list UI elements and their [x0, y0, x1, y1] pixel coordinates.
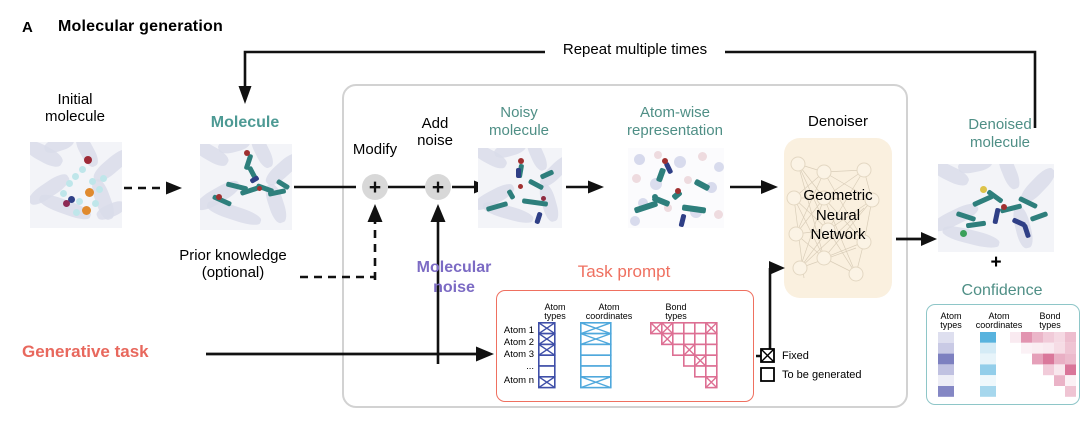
arrow-atomwise-to-denoiser — [730, 178, 780, 196]
confidence-header-atom-coordinates: Atom coordinates — [968, 312, 1030, 331]
dashed-line-prior-knowledge-horizontal — [300, 272, 380, 282]
dashed-arrow-initial-to-molecule — [124, 178, 186, 198]
confidence-bond-types-heatmap — [1010, 332, 1076, 398]
modify-label: Modify — [340, 142, 410, 159]
confidence-plus-sign: + — [968, 252, 1024, 273]
arrow-molecule-to-modify — [294, 178, 360, 196]
legend-fixed-label: Fixed — [782, 350, 809, 362]
legend-fixed-icon — [760, 348, 775, 363]
task-prompt-atom-types-matrix — [538, 322, 560, 388]
molecular-noise-label: Molecular noise — [398, 258, 510, 298]
neural-network-label: Geometric Neural Network — [784, 186, 892, 245]
task-prompt-row-label-0: Atom 1 — [498, 325, 534, 336]
task-prompt-legend: Fixed To be generated — [760, 348, 890, 382]
noisy-molecule-label: Noisy molecule — [464, 104, 574, 140]
arrow-denoiser-to-denoised — [896, 230, 938, 248]
molecule-image — [200, 144, 292, 230]
dashed-arrow-prior-knowledge — [360, 196, 390, 280]
task-prompt-header-bond-types: Bond types — [650, 303, 702, 322]
denoised-molecule-label: Denoised molecule — [930, 116, 1070, 152]
atomwise-representation-label: Atom-wise representation — [600, 104, 750, 140]
arrow-modify-to-addnoise — [388, 178, 430, 196]
generative-task-label: Generative task — [22, 342, 222, 362]
confidence-header-bond-types: Bond types — [1028, 312, 1072, 331]
task-prompt-header-atom-coordinates: Atom coordinates — [576, 303, 642, 322]
denoiser-label: Denoiser — [784, 114, 892, 131]
confidence-atom-types-heatmap — [938, 332, 956, 398]
add-noise-label: Add noise — [402, 116, 468, 150]
task-prompt-row-label-1: Atom 2 — [498, 337, 534, 348]
noisy-molecule-image — [478, 148, 562, 228]
denoised-molecule-image — [938, 164, 1054, 252]
confidence-atom-coordinates-heatmap — [980, 332, 998, 398]
task-prompt-row-label-3: ... — [498, 361, 534, 372]
molecule-label: Molecule — [185, 114, 305, 132]
task-prompt-atom-coordinates-matrix — [580, 322, 616, 388]
atomwise-representation-image — [628, 148, 724, 228]
page-title: Molecular generation — [58, 18, 223, 36]
repeat-loop-label: Repeat multiple times — [545, 42, 725, 59]
task-prompt-bond-types-matrix — [650, 322, 722, 392]
task-prompt-title: Task prompt — [496, 262, 752, 281]
initial-molecule-image — [30, 142, 122, 228]
prior-knowledge-label: Prior knowledge (optional) — [160, 248, 306, 282]
legend-generated-label: To be generated — [782, 369, 862, 381]
arrow-noisy-to-atomwise — [566, 178, 606, 196]
task-prompt-header-atom-types: Atom types — [534, 303, 576, 322]
task-prompt-row-label-2: Atom 3 — [498, 349, 534, 360]
panel-letter: A — [22, 19, 33, 36]
confidence-title: Confidence — [926, 282, 1078, 300]
confidence-header-atom-types: Atom types — [932, 312, 970, 331]
initial-molecule-label: Initial molecule — [20, 92, 130, 126]
arrow-generative-task — [206, 344, 496, 364]
legend-generated-icon — [760, 367, 775, 382]
task-prompt-row-label-4: Atom n — [498, 375, 534, 386]
